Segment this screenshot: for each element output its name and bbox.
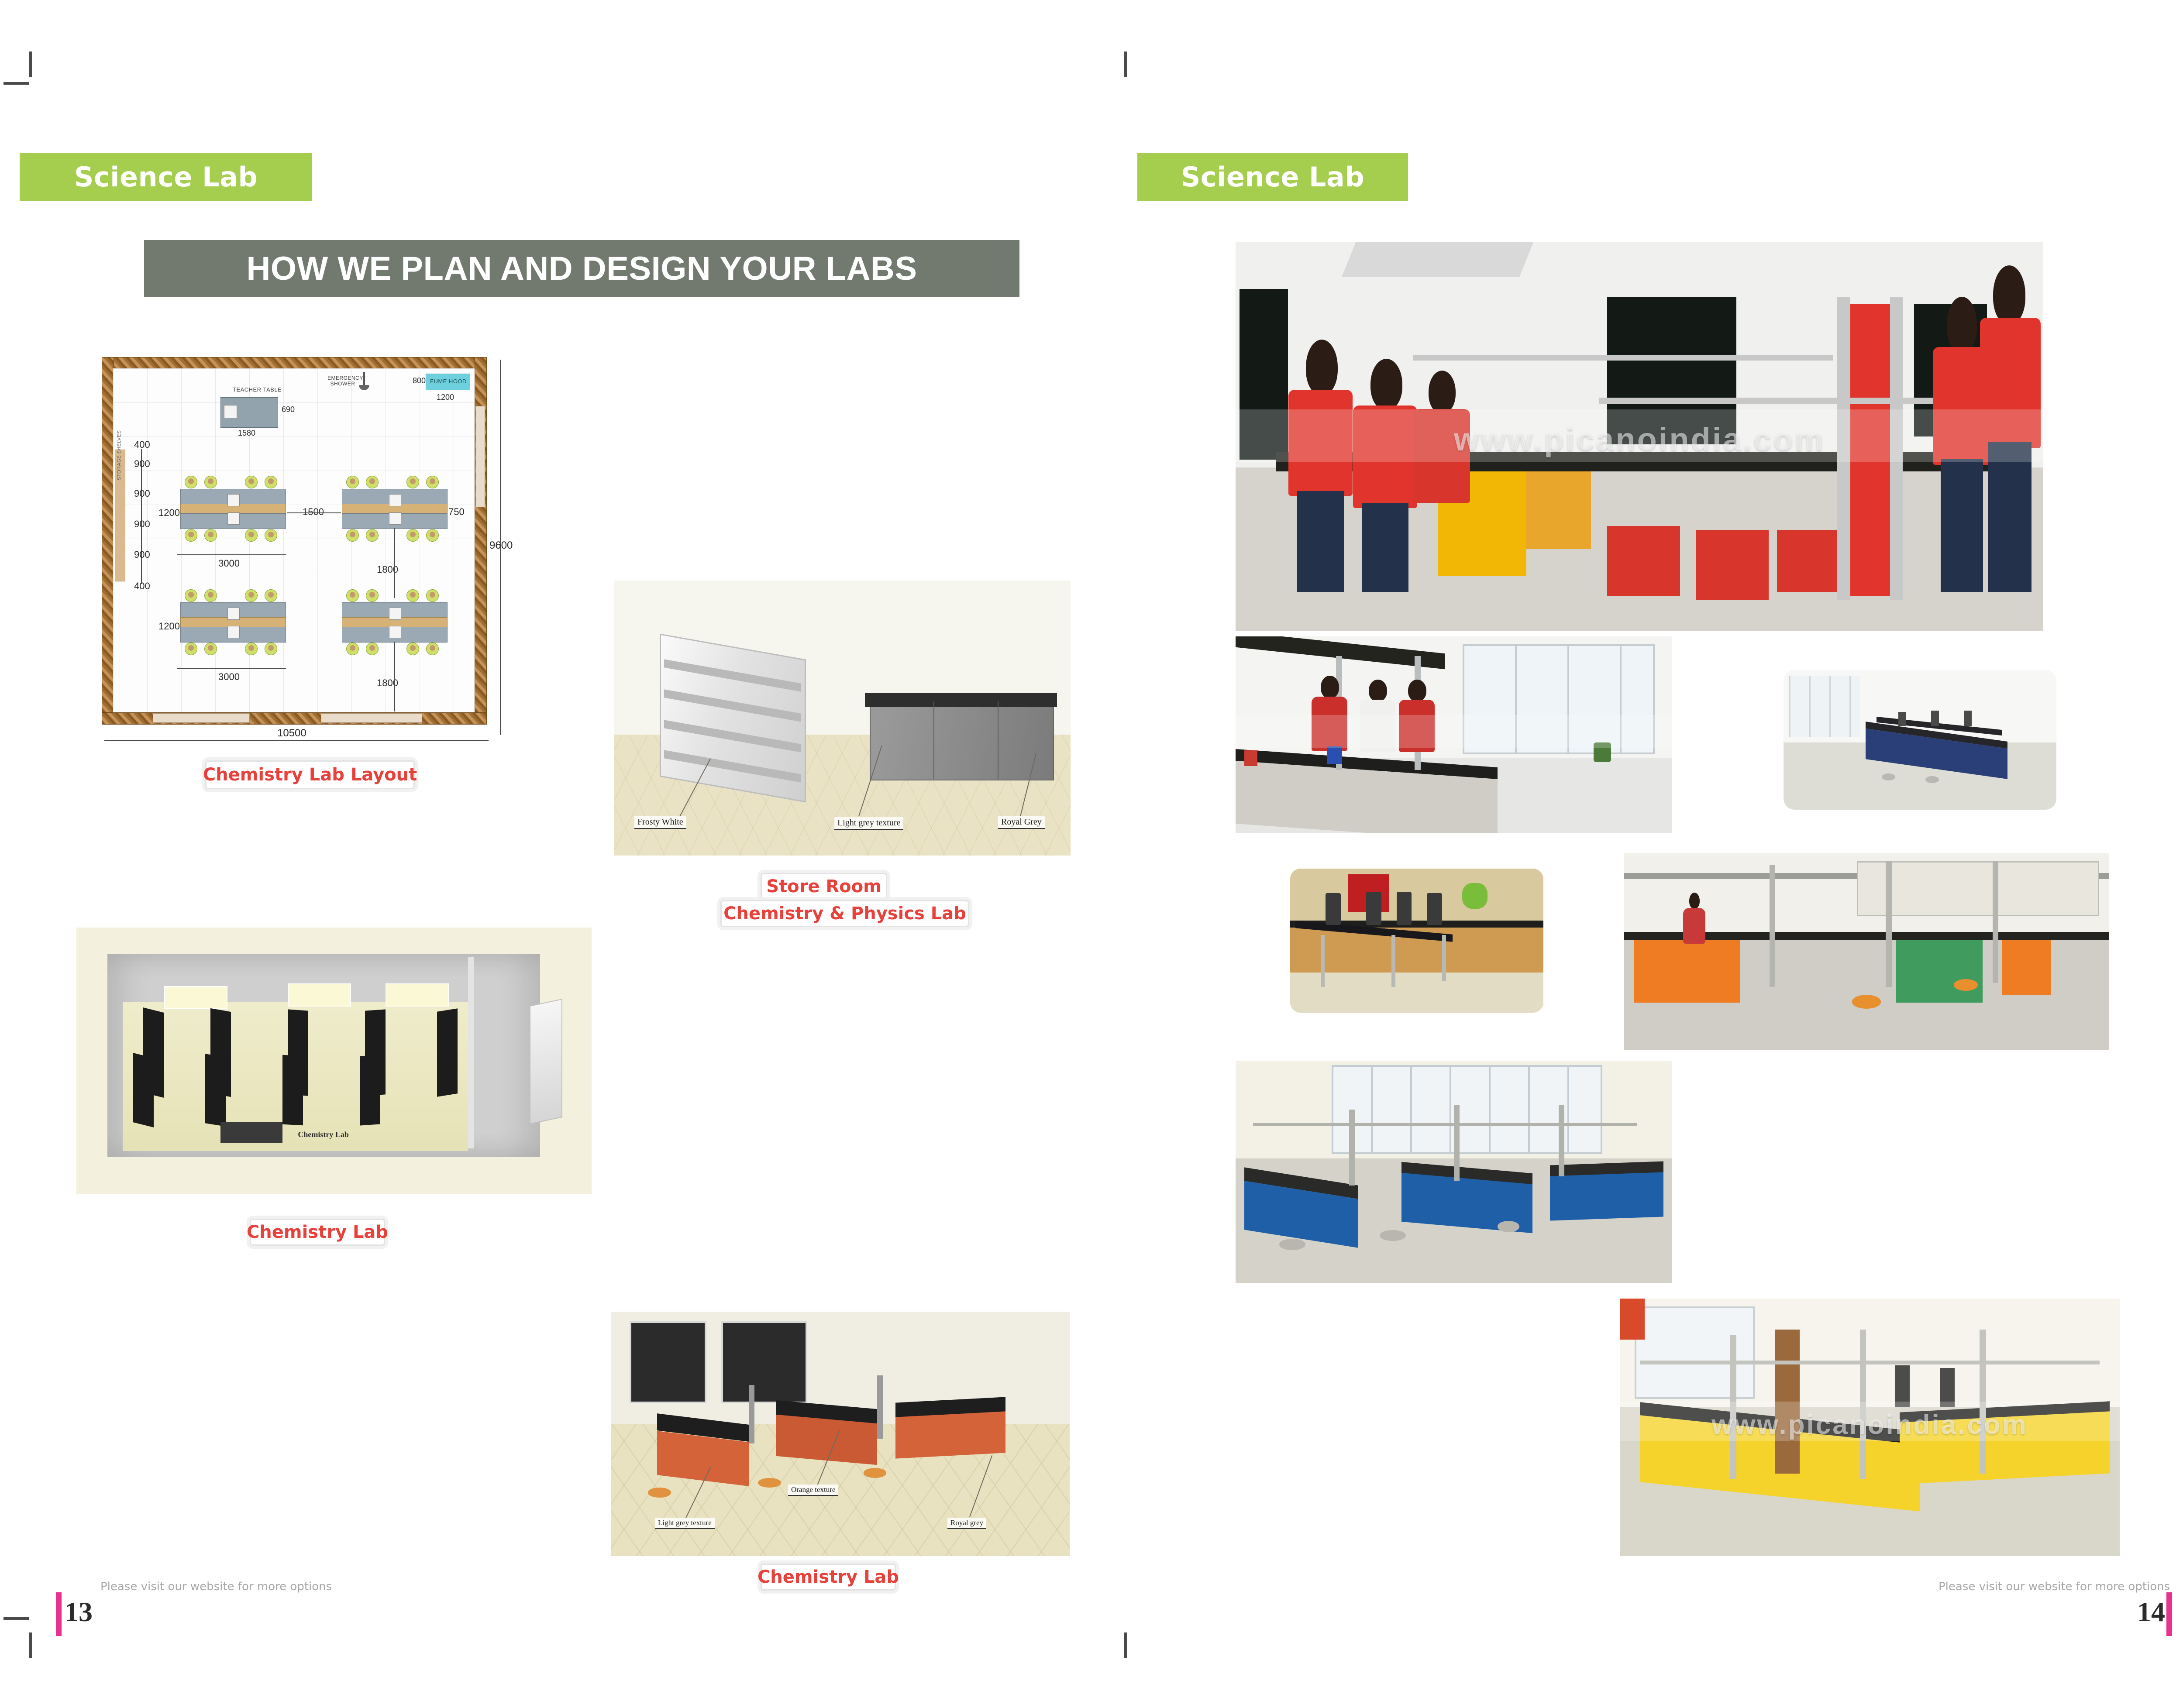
microscope-green-plant [1462, 883, 1487, 909]
floor-plan-dim-fume-width: 1200 [437, 393, 454, 402]
floor-plan-emergency-shower-icon [363, 372, 365, 386]
physics-apparatus [1898, 712, 1907, 726]
window-bench-bottle-blue [1327, 746, 1342, 764]
stool [426, 589, 439, 602]
dim-leader-bench1-length [177, 554, 286, 555]
microscope-unit [1427, 893, 1442, 925]
student-figure [1409, 371, 1474, 584]
render-store-shelves [530, 999, 562, 1124]
stool [245, 529, 258, 542]
classroom-window-right [721, 1321, 807, 1403]
annotation-frosty-white: Frosty White [634, 816, 686, 829]
floor-plan-room-floor [113, 368, 475, 712]
yellow-lab-frame-upright [1980, 1330, 1986, 1474]
floor-plan-door-left [153, 713, 250, 723]
annotation-classroom-light-grey-texture: Light grey texture [655, 1518, 715, 1529]
stool [346, 476, 359, 488]
classroom-window-left [630, 1321, 706, 1403]
annotation-classroom-orange-texture: Orange texture [788, 1485, 838, 1496]
floor-plan-dim-teacher-depth: 690 [282, 405, 295, 414]
yellow-lab-apparatus [1895, 1365, 1910, 1406]
microscope-bench-leg [1321, 935, 1325, 987]
bench-sink-lower [389, 626, 401, 638]
classroom-shelf-upright [749, 1385, 754, 1443]
blue-lab-stool [1498, 1221, 1519, 1232]
render-bench-row-lower [282, 1055, 303, 1125]
bench-sink-upper [227, 608, 240, 620]
dim-overall-height: 9600 [489, 540, 513, 552]
render-in-image-label: Chemistry Lab [298, 1130, 349, 1139]
floor-plan-storage-label: STORAGE SHELVES [117, 430, 122, 480]
colour-lab-frame-upright [1886, 861, 1891, 987]
caption-chemistry-classroom: Chemistry Lab [761, 1564, 896, 1591]
student-head [1306, 340, 1338, 395]
floor-plan-dim-teacher-width: 1580 [238, 429, 255, 438]
dim-storage-bay-4: 900 [134, 549, 150, 560]
stool [265, 589, 277, 602]
yellow-lab-scene [1620, 1299, 2120, 1556]
colour-lab-scene [1624, 853, 2109, 1050]
dim-bench-depth-lower: 1200 [158, 621, 180, 632]
stool [204, 476, 217, 488]
dim-wall-clearance: 750 [448, 506, 465, 518]
hero-wall-board [1607, 297, 1736, 444]
stool [366, 529, 379, 542]
stool [185, 529, 197, 542]
stool [426, 529, 439, 542]
classroom-shelf-upright [877, 1375, 883, 1439]
hero-frame-upright [1890, 297, 1903, 600]
stool [366, 643, 379, 655]
render-bench-row-lower [360, 1055, 380, 1125]
dim-leader-vertical-upper [394, 528, 395, 598]
page-bar-right [2166, 1592, 2172, 1636]
bench-sink-lower [227, 626, 240, 638]
footer-note-right: Please visit our website for more option… [1939, 1580, 2170, 1593]
stool [265, 476, 277, 488]
stool [406, 589, 419, 602]
microscope-bench-leg [1391, 935, 1395, 987]
student-torso [1413, 409, 1470, 503]
render-teacher-desk [220, 1122, 282, 1143]
floor-plan-dim-fume-depth: 800 [413, 376, 426, 385]
yellow-lab-window [1635, 1306, 1755, 1399]
hero-cabinet-orange [1526, 471, 1591, 549]
dim-leader-horizontal-center [287, 512, 341, 513]
stool [346, 529, 359, 542]
dim-leader-vertical-lower [394, 642, 395, 711]
floor-plan-fume-hood-label: FUME HOOD [430, 378, 467, 385]
hero-cabinet-red [1696, 530, 1769, 600]
store-room-cabinet-door-divider-2 [998, 701, 999, 778]
annotation-classroom-royal-grey: Royal grey [947, 1518, 986, 1529]
store-room-cabinet-run [870, 701, 1054, 780]
window-bench-bottle-red [1244, 750, 1257, 766]
yellow-lab-bench-front [1900, 1412, 2110, 1485]
hero-ceiling [1342, 242, 1533, 277]
yellow-lab-frame-upright [1730, 1335, 1736, 1479]
dim-storage-bay-1: 900 [134, 458, 150, 470]
section-tab-left-label: Science Lab [74, 161, 258, 193]
store-room-cabinet-worktop [865, 693, 1057, 707]
classroom-stool [864, 1468, 887, 1478]
student-legs [1362, 503, 1408, 592]
blue-lab-shelf-upright [1349, 1110, 1355, 1185]
physics-rows-scene [1784, 670, 2056, 810]
colour-lab-reagent-shelf [1857, 861, 2099, 916]
staff-head [1689, 893, 1700, 909]
floor-plan-door-right [321, 713, 422, 723]
hero-cabinet-red [1607, 526, 1680, 596]
window-glazing [1463, 644, 1655, 754]
dim-bench-length-lower: 3000 [218, 671, 240, 683]
photo-yellow-bench-lab: www.picanoindia.com [1620, 1299, 2120, 1556]
physics-apparatus [1931, 711, 1939, 726]
footer-note-left: Please visit our website for more option… [100, 1580, 332, 1593]
caption-chemistry-lab-render-label: Chemistry Lab [247, 1222, 388, 1242]
stool [265, 643, 277, 655]
yellow-lab-frame-upright [1860, 1330, 1866, 1479]
render-ceiling-light [164, 986, 228, 1009]
colour-lab-stool-orange [1852, 995, 1881, 1009]
staff-torso [1683, 908, 1705, 944]
yellow-lab-apparatus [1940, 1368, 1955, 1407]
photo-students-at-chemistry-bench: www.picanoindia.com [1236, 242, 2043, 631]
student-legs [1941, 459, 1983, 592]
student-head [1993, 265, 2025, 324]
student-head [1321, 676, 1339, 698]
crop-mark-bottom-left-v [29, 1632, 32, 1658]
floor-plan-teacher-sink [224, 405, 237, 418]
student-figure [1284, 340, 1357, 592]
student-figure [1979, 265, 2043, 592]
bench-sink-upper [389, 494, 401, 506]
photo-lab-window-bench-students [1236, 636, 1672, 833]
student-torso [1980, 318, 2041, 448]
caption-store-room-label: Store Room [766, 876, 881, 897]
store-room-cabinet-door-divider-1 [933, 701, 934, 778]
caption-chemistry-physics-lab-label: Chemistry & Physics Lab [723, 904, 966, 924]
window-bench-scene [1236, 636, 1672, 833]
annotation-light-grey-texture: Light grey texture [834, 817, 903, 830]
microscope-scene [1290, 869, 1543, 1013]
render-bench-row [437, 1008, 458, 1097]
hero-cabinet-red [1777, 530, 1842, 592]
student-torso [1360, 700, 1396, 752]
colour-lab-bench-green [1896, 936, 1983, 1003]
chemistry-lab-floor-plan: STORAGE SHELVES TEACHER TABLE 1580 690 E… [94, 349, 517, 738]
render-ceiling-light [288, 983, 351, 1007]
microscope-unit [1326, 893, 1341, 925]
store-room-scene [614, 581, 1071, 856]
floor-plan-bench-island-3 [180, 602, 285, 650]
microscope-bench-leg [1442, 935, 1446, 981]
student-head [1429, 371, 1456, 413]
crop-mark-top-center [1124, 52, 1127, 77]
stool [265, 529, 277, 542]
bench-sink-lower [389, 512, 401, 525]
floor-plan-window-right [475, 406, 485, 507]
caption-chemistry-lab-render: Chemistry Lab [250, 1219, 385, 1246]
stool [185, 589, 197, 602]
student-legs [1297, 491, 1344, 592]
stool [406, 476, 419, 488]
dim-bench-depth-upper: 1200 [158, 507, 180, 519]
hero-frame-upright [1837, 297, 1850, 600]
render-bench-row-lower [205, 1054, 226, 1126]
student-figure [1397, 680, 1436, 770]
colour-lab-frame-upright [1993, 861, 1998, 983]
student-torso [1399, 700, 1435, 752]
student-head [1370, 359, 1402, 410]
yellow-lab-wood-column [1775, 1330, 1800, 1474]
stool [426, 643, 439, 655]
stool [406, 529, 419, 542]
hero-scene [1236, 242, 2043, 631]
colour-lab-stool-orange [1954, 979, 1978, 991]
blue-lab-scene [1236, 1061, 1672, 1283]
floor-plan-wall-left [102, 357, 114, 725]
bench-sink-upper [389, 608, 401, 620]
microscope-unit [1366, 892, 1381, 925]
photo-microscope-bench [1290, 869, 1543, 1013]
dim-overall-width: 10500 [277, 727, 306, 739]
blue-lab-stool [1380, 1230, 1406, 1241]
yellow-lab-red-panel [1620, 1299, 1645, 1340]
caption-chemistry-lab-layout-label: Chemistry Lab Layout [203, 765, 417, 785]
physics-stool [1882, 773, 1895, 780]
stool [185, 643, 197, 655]
floor-plan-teacher-table-label: TEACHER TABLE [233, 386, 282, 393]
stool [245, 643, 258, 655]
stool [245, 589, 258, 602]
crop-mark-top-left-v [29, 52, 32, 77]
student-legs [1988, 442, 2032, 592]
chemistry-render-scene: Chemistry Lab [76, 928, 592, 1194]
render-ceiling-light [386, 983, 449, 1007]
lab-staff-figure [1682, 893, 1707, 944]
section-tab-right: Science Lab [1137, 153, 1408, 201]
classroom-stool [648, 1488, 671, 1497]
headline-text: HOW WE PLAN AND DESIGN YOUR LABS [246, 250, 917, 288]
dim-storage-bay-2: 900 [134, 488, 150, 499]
photo-colourful-lab-orange-green [1624, 853, 2109, 1050]
section-tab-left: Science Lab [20, 153, 312, 201]
student-torso [1288, 390, 1353, 496]
photo-physics-lab-rows [1784, 670, 2056, 810]
overall-dim-bottom-line [104, 740, 489, 741]
student-figure [1358, 680, 1397, 770]
hero-wall-board [1240, 289, 1288, 460]
physics-apparatus [1964, 711, 1972, 726]
bench-sink-lower [227, 512, 240, 525]
stool [366, 589, 379, 602]
stool [204, 589, 217, 602]
student-head [1369, 680, 1387, 701]
photo-store-room: Frosty White Light grey texture Royal Gr… [614, 581, 1071, 856]
hero-red-column [1849, 304, 1890, 596]
stool [185, 476, 197, 488]
colour-lab-bench-orange [2002, 936, 2051, 995]
dim-storage-top-offset: 400 [134, 439, 150, 450]
stool [346, 589, 359, 602]
brochure-spread: Science Lab HOW WE PLAN AND DESIGN YOUR … [0, 0, 2183, 1708]
physics-window [1789, 676, 1860, 737]
microscope-floor [1290, 973, 1543, 1013]
blue-lab-shelf-upright [1454, 1105, 1460, 1181]
student-head [1408, 680, 1426, 701]
dim-leader-bench3-length [177, 668, 286, 669]
stool [204, 529, 217, 542]
floor-plan-emergency-shower-label: EMERGENCY SHOWER [327, 375, 358, 387]
blue-lab-stool [1279, 1239, 1305, 1250]
caption-chemistry-lab-layout: Chemistry Lab Layout [205, 760, 415, 789]
section-tab-right-label: Science Lab [1181, 161, 1364, 193]
dim-storage-bay-3: 900 [134, 519, 150, 530]
photo-chemistry-lab-render: Chemistry Lab [76, 928, 592, 1194]
student-torso [1312, 697, 1348, 751]
colour-lab-bench-orange [1634, 940, 1740, 1003]
classroom-bench-front [895, 1412, 1005, 1459]
student-torso [1353, 406, 1417, 508]
dim-storage-bottom-offset: 400 [134, 581, 150, 592]
crop-mark-bottom-center [1124, 1632, 1127, 1658]
floor-plan-bench-island-1 [180, 489, 285, 536]
photo-blue-bench-lab-stools [1236, 1061, 1672, 1283]
crop-mark-top-left-h [3, 82, 29, 85]
crop-mark-bottom-left-h [3, 1617, 29, 1620]
caption-store-room: Store Room [761, 873, 887, 900]
render-bench-row-lower [133, 1053, 154, 1127]
annotation-royal-grey: Royal Grey [998, 816, 1045, 829]
blue-lab-bench-front [1550, 1172, 1663, 1221]
blue-lab-shelf-rail [1253, 1123, 1637, 1126]
headline-banner: HOW WE PLAN AND DESIGN YOUR LABS [144, 240, 1019, 297]
stool [245, 476, 258, 488]
bench-sink-upper [227, 494, 240, 506]
render-store-partition [468, 957, 474, 1148]
stool [346, 643, 359, 655]
blue-lab-shelf-upright [1559, 1105, 1564, 1176]
dim-aisle-center: 1500 [303, 506, 324, 518]
stool [204, 643, 217, 655]
hero-frame-rail [1413, 355, 1833, 360]
classroom-stool [758, 1478, 781, 1488]
dim-bench-length-upper: 3000 [218, 558, 240, 569]
stool [366, 476, 379, 488]
photo-chemistry-classroom: Light grey texture Orange texture Royal … [611, 1312, 1070, 1556]
page-number-right: 14 [2137, 1596, 2165, 1628]
window-plant [1594, 742, 1611, 762]
page-bar-left [56, 1592, 62, 1636]
page-number-left: 13 [65, 1596, 93, 1628]
stool [426, 476, 439, 488]
caption-chemistry-physics-lab: Chemistry & Physics Lab [720, 900, 969, 927]
yellow-lab-shelf-rail [1640, 1361, 2100, 1364]
colour-lab-frame-upright [1770, 865, 1775, 987]
floor-plan-wall-top [102, 357, 487, 369]
microscope-unit [1397, 892, 1412, 925]
caption-chemistry-classroom-label: Chemistry Lab [758, 1567, 899, 1587]
stool [406, 643, 419, 655]
student-head [1947, 297, 1976, 353]
